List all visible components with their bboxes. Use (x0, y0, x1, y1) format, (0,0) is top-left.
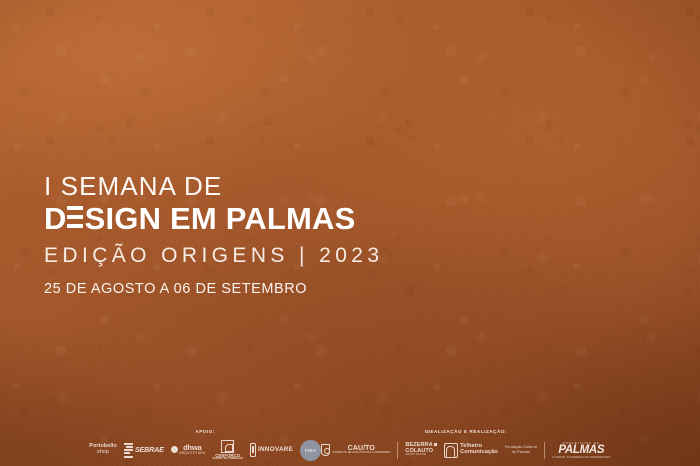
cenforco-square-icon (221, 440, 234, 453)
palmas-post-text: A CAPITAL DA ENERGIA DO AGRONEGÓCIO (552, 456, 611, 459)
circular-badge-icon: FIEA (300, 440, 321, 461)
innovare-wordmark: INNOVARE (258, 447, 293, 454)
page-title-part-2: SIGN EM PALMAS (85, 201, 356, 237)
portobello-line2: shop (89, 450, 117, 456)
bezerra-square-icon (434, 443, 437, 446)
support-group-label: APOIO: (195, 429, 215, 434)
fundacao-line2: de Palmas (505, 450, 537, 455)
sebrae-stripes-icon (124, 443, 133, 458)
cau-tagline: CONSELHO DE ARQUITETURA E URBANISMO (332, 452, 390, 455)
logo-prefeitura-palmas[interactable]: PREFEITURA DE PALMAS A CAPITAL DA ENERGI… (552, 441, 611, 460)
sponsor-logo-strip: APOIO: Portobello shop SEBRAE (0, 429, 700, 462)
innovare-pill-icon (250, 443, 256, 457)
adhwa-dot-icon (171, 446, 178, 453)
bezerra-line1: BEZERRA (405, 442, 432, 448)
logo-adhwa[interactable]: dhwa ARQUITETURA (171, 444, 206, 455)
circular-partner-text: FIEA (305, 448, 316, 453)
adhwa-tagline: ARQUITETURA (179, 452, 205, 455)
organizer-group-label: IDEALIZAÇÃO E REALIZAÇÃO: (425, 429, 507, 434)
logo-innovare[interactable]: INNOVARE (250, 443, 293, 457)
telheiro-line2: Comunicação (460, 450, 498, 456)
logo-cau-to[interactable]: CAU/TO CONSELHO DE ARQUITETURA E URBANIS… (321, 444, 390, 456)
logo-telheiro-comunicacao[interactable]: Telheiro Comunicação (444, 443, 498, 458)
bezerra-tagline: ARQUITETOS (405, 454, 436, 457)
page-title: D SIGN EM PALMAS (44, 201, 383, 237)
headline-block: I SEMANA DE D SIGN EM PALMAS EDIÇÃO ORIG… (44, 172, 383, 297)
logo-sebrae[interactable]: SEBRAE (124, 443, 164, 458)
logo-cenforco[interactable]: CENFORCO CENTRO DE FORMAÇÃO (212, 440, 243, 461)
logo-divider (397, 442, 398, 459)
logo-divider-2 (544, 442, 545, 459)
organizer-logo-row: CAU/TO CONSELHO DE ARQUITETURA E URBANIS… (321, 438, 611, 462)
cau-crest-icon (321, 444, 330, 456)
palmas-wordmark: PALMAS (558, 445, 604, 457)
sebrae-wordmark: SEBRAE (135, 446, 164, 454)
logo-fundacao-cultural-palmas[interactable]: Fundação Cultural de Palmas (505, 445, 537, 455)
event-subtitle: EDIÇÃO ORIGENS | 2023 (44, 242, 383, 269)
stylised-e-glyph-icon (67, 206, 84, 228)
cenforco-tagline: CENTRO DE FORMAÇÃO (212, 458, 243, 461)
support-logo-row: Portobello shop SEBRAE dhwa ARQUITETURA (89, 438, 321, 462)
logo-portobello-shop[interactable]: Portobello shop (89, 444, 117, 455)
event-poster: I SEMANA DE D SIGN EM PALMAS EDIÇÃO ORIG… (0, 0, 700, 466)
logo-bezerra-colauto[interactable]: BEZERRA COLAUTO ARQUITETOS (405, 443, 436, 457)
event-dates: 25 DE AGOSTO A 06 DE SETEMBRO (44, 281, 383, 297)
support-logo-group: APOIO: Portobello shop SEBRAE (89, 429, 321, 462)
event-edition-prefix: I SEMANA DE (44, 172, 383, 200)
logo-circular-partner[interactable]: FIEA (300, 440, 321, 461)
telheiro-arch-icon (444, 443, 458, 458)
organizer-logo-group: IDEALIZAÇÃO E REALIZAÇÃO: CAU/TO CONSELH… (321, 429, 611, 462)
page-title-part-1: D (44, 201, 67, 237)
